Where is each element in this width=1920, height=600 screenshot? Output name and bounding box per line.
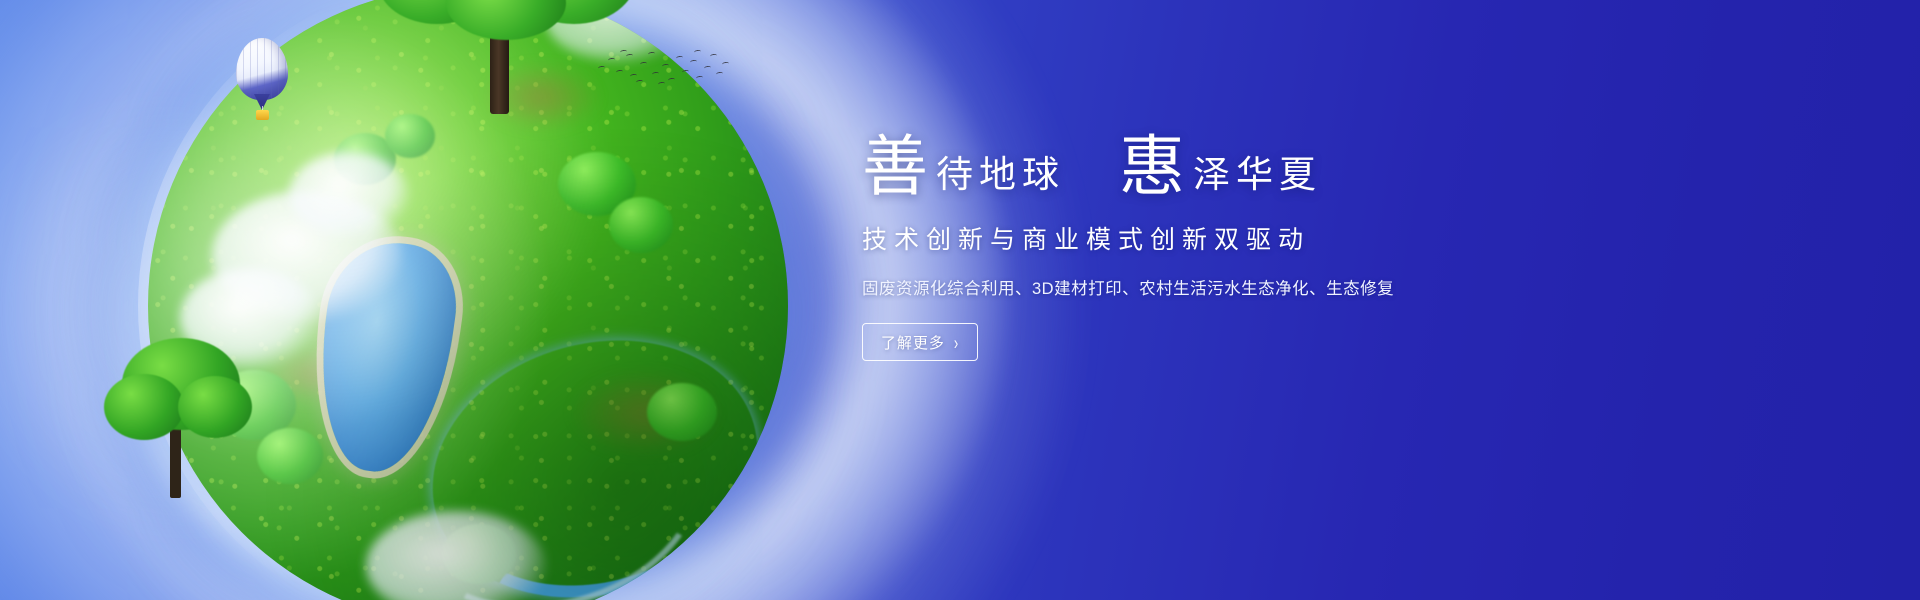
tree-clump: [442, 524, 516, 584]
headline-part2-big: 惠: [1119, 134, 1185, 200]
headline-part1-small: 待地球: [928, 156, 1065, 198]
bird-icon: [652, 72, 659, 77]
bird-icon: [648, 52, 655, 57]
learn-more-button[interactable]: 了解更多 ›: [862, 323, 978, 361]
hot-air-balloon: [236, 38, 288, 124]
lake: [305, 234, 464, 480]
tree-canopy: [104, 374, 184, 440]
chevron-right-icon: ›: [954, 332, 959, 352]
cloud: [366, 511, 546, 600]
cloud: [289, 152, 409, 238]
bird-icon: [690, 60, 697, 65]
tree-clump: [257, 428, 323, 484]
bird-icon: [694, 50, 701, 55]
balloon-envelope: [236, 38, 288, 100]
bird-icon: [682, 70, 689, 75]
headline-part2-small: 泽华夏: [1185, 156, 1322, 198]
bird-icon: [668, 78, 675, 83]
soil-patch: [570, 370, 720, 456]
rim-tree: [104, 330, 254, 500]
large-tree: [372, 0, 632, 124]
bird-icon: [630, 74, 637, 79]
tree-clump: [647, 383, 717, 441]
bird-icon: [616, 70, 623, 75]
learn-more-label: 了解更多: [881, 332, 945, 353]
bird-icon: [658, 82, 665, 87]
bird-icon: [640, 62, 647, 67]
balloon-basket: [256, 110, 269, 120]
bird-icon: [676, 56, 683, 61]
page-title: 善 待地球 惠 泽华夏: [862, 132, 1562, 198]
bird-flock: [596, 48, 726, 88]
hero-content: 善 待地球 惠 泽华夏 技术创新与商业模式创新双驱动 固废资源化综合利用、3D建…: [862, 132, 1562, 361]
tree-canopy: [178, 376, 252, 438]
bird-icon: [704, 66, 711, 71]
tree-canopy: [446, 0, 566, 40]
river: [402, 304, 788, 600]
bird-icon: [626, 54, 633, 59]
hero-description: 固废资源化综合利用、3D建材打印、农村生活污水生态净化、生态修复: [862, 275, 1562, 299]
hero-banner: 善 待地球 惠 泽华夏 技术创新与商业模式创新双驱动 固废资源化综合利用、3D建…: [0, 0, 1920, 600]
bird-icon: [598, 66, 605, 71]
tree-clump: [334, 133, 396, 185]
bird-icon: [716, 72, 723, 77]
tree-clump: [558, 152, 636, 216]
bird-icon: [608, 58, 615, 63]
tree-clump: [609, 197, 673, 253]
bird-icon: [710, 54, 717, 59]
bird-icon: [696, 76, 703, 81]
bird-icon: [636, 80, 643, 85]
hero-subtitle: 技术创新与商业模式创新双驱动: [862, 220, 1562, 256]
cloud: [212, 191, 402, 321]
soil-patch: [263, 344, 359, 404]
bird-icon: [662, 64, 669, 69]
headline-part1-big: 善: [862, 134, 928, 200]
